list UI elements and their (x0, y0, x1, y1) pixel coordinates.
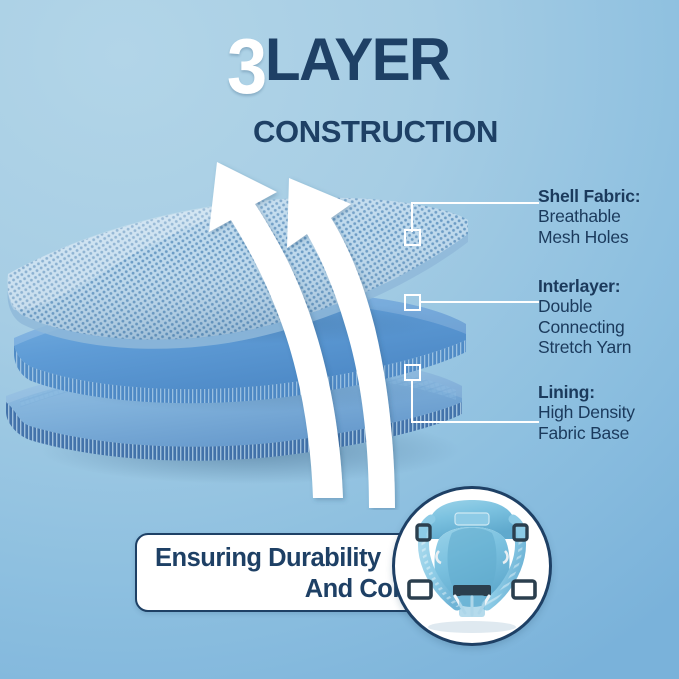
leader-seg-vertical-lining (411, 380, 413, 423)
callout-interlayer: Interlayer: Double Connecting Stretch Ya… (538, 276, 631, 358)
callout-lining-line-1: High Density (538, 402, 635, 422)
leader-marker-interlayer (404, 294, 421, 311)
title-number: 3 (226, 34, 264, 100)
leader-line-lining (403, 364, 543, 434)
callout-shell-line-2: Mesh Holes (538, 227, 640, 247)
airflow-arrows-illustration (185, 140, 400, 510)
callout-interlayer-line-3: Stretch Yarn (538, 337, 631, 357)
callout-interlayer-line-2: Connecting (538, 317, 631, 337)
harness-center-buckle (453, 585, 491, 596)
harness-shadow (428, 621, 516, 633)
leader-seg-horizontal-lining (411, 421, 539, 423)
leader-seg-horizontal-interlayer (420, 301, 539, 303)
airflow-arrows (185, 140, 400, 510)
title-main-word: LAYER (265, 34, 450, 86)
title-headline-row: 3 LAYER (0, 34, 679, 100)
harness-label-patch (455, 513, 489, 525)
leader-seg-horizontal-shell (411, 202, 539, 204)
callout-interlayer-title: Interlayer: (538, 276, 631, 296)
harness-belly-panel (459, 595, 485, 617)
dog-harness-image (395, 489, 549, 643)
harness-adjuster-bottom-left (409, 581, 431, 598)
infographic-canvas: 3 LAYER CONSTRUCTION (0, 0, 679, 679)
leader-seg-vertical-shell (411, 202, 413, 232)
leader-line-shell (403, 196, 543, 256)
callout-shell-line-1: Breathable (538, 206, 640, 226)
title-block: 3 LAYER CONSTRUCTION (0, 34, 679, 144)
callout-shell-title: Shell Fabric: (538, 186, 640, 206)
product-circle-inset (392, 486, 552, 646)
leader-line-interlayer (403, 294, 543, 318)
callout-lining: Lining: High Density Fabric Base (538, 382, 635, 443)
callout-interlayer-line-1: Double (538, 296, 631, 316)
harness-adjuster-bottom-right (513, 581, 535, 598)
callout-shell-fabric: Shell Fabric: Breathable Mesh Holes (538, 186, 640, 247)
leader-marker-lining (404, 364, 421, 381)
callout-lining-title: Lining: (538, 382, 635, 402)
callout-lining-line-2: Fabric Base (538, 423, 635, 443)
